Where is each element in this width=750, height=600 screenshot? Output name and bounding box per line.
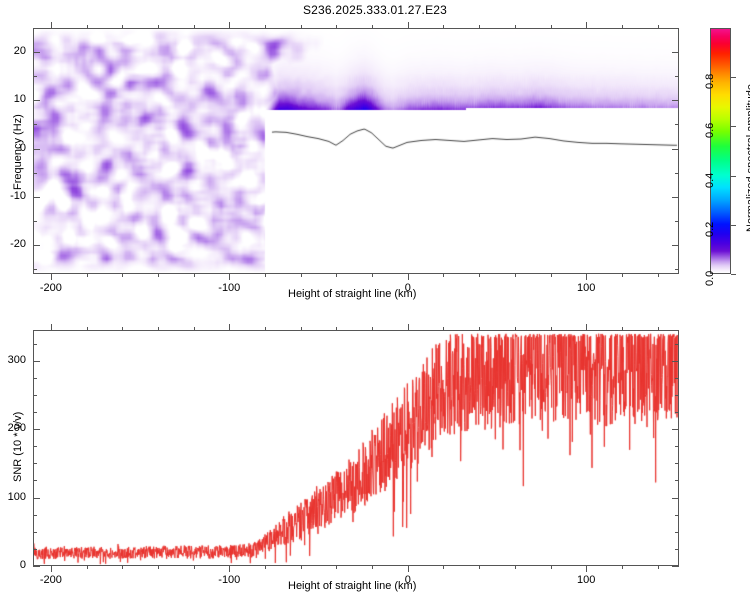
minor-ytick-right [675,173,679,174]
minor-xtick [194,566,195,569]
major-ytick [33,149,40,150]
page-title: S236.2025.333.01.27.E23 [0,3,750,17]
minor-xtick [622,566,623,569]
minor-xtick [479,274,480,277]
spectrogram-panel [33,28,679,274]
minor-xtick-top [265,327,266,330]
major-ytick [33,498,40,499]
minor-xtick [87,274,88,277]
minor-ytick-right [675,395,679,396]
minor-xtick [87,566,88,569]
major-ytick [33,52,40,53]
figure-root: S236.2025.333.01.27.E23 -200-1000100-20-… [0,0,750,600]
major-ytick-right [672,149,679,150]
xtick-label: -100 [209,574,249,586]
ytick-label: 300 [0,354,26,366]
minor-ytick [33,28,37,29]
minor-ytick [33,532,37,533]
minor-xtick-top [87,25,88,28]
minor-xtick-top [194,327,195,330]
ytick-label: -10 [0,190,26,202]
minor-xtick-top [551,25,552,28]
minor-xtick-top [372,25,373,28]
minor-xtick [372,566,373,569]
xtick-label: -200 [31,282,71,294]
minor-xtick-top [265,25,266,28]
minor-xtick-top [122,25,123,28]
minor-ytick [33,221,37,222]
minor-ytick [33,515,37,516]
major-ytick-right [672,429,679,430]
minor-xtick [372,274,373,277]
minor-ytick [33,549,37,550]
major-ytick-right [672,361,679,362]
major-xtick-top [51,22,52,28]
major-xtick-top [229,22,230,28]
minor-xtick-top [336,327,337,330]
xtick-label: 100 [566,282,606,294]
minor-xtick [336,566,337,569]
minor-ytick-right [675,28,679,29]
spectrogram-canvas [34,29,678,273]
minor-ytick [33,378,37,379]
minor-xtick-top [301,327,302,330]
ytick-label: 10 [0,93,26,105]
minor-xtick [515,566,516,569]
snr-canvas [34,331,678,565]
minor-xtick [265,566,266,569]
minor-ytick [33,446,37,447]
minor-xtick [551,566,552,569]
minor-xtick-top [479,25,480,28]
minor-xtick [551,274,552,277]
minor-ytick-right [675,549,679,550]
major-xtick-top [586,324,587,330]
spectrogram-xaxis-label: Height of straight line (km) [288,288,416,300]
major-ytick [33,245,40,246]
minor-xtick [479,566,480,569]
snr-panel [33,330,679,566]
xtick-label: 100 [566,574,606,586]
minor-xtick [158,274,159,277]
minor-ytick [33,173,37,174]
minor-xtick [658,274,659,277]
minor-xtick-top [551,327,552,330]
major-ytick-right [672,498,679,499]
minor-xtick [265,274,266,277]
major-xtick [51,566,52,572]
minor-xtick-top [301,25,302,28]
minor-xtick [336,274,337,277]
major-xtick-top [51,324,52,330]
colorbar-tick-label: 0.4 [704,172,716,187]
major-ytick [33,566,40,567]
ytick-label: -20 [0,238,26,250]
colorbar-tick [731,274,736,275]
minor-xtick [622,274,623,277]
minor-xtick-top [622,25,623,28]
major-ytick-right [672,245,679,246]
major-ytick-right [672,52,679,53]
ytick-label: 100 [0,491,26,503]
colorbar-tick [731,126,736,127]
xtick-label: -100 [209,282,249,294]
minor-ytick [33,124,37,125]
minor-ytick-right [675,221,679,222]
minor-xtick-top [372,327,373,330]
minor-xtick-top [122,327,123,330]
minor-ytick-right [675,412,679,413]
major-xtick-top [408,324,409,330]
minor-ytick-right [675,532,679,533]
minor-xtick [658,566,659,569]
minor-xtick-top [158,25,159,28]
minor-xtick-top [515,25,516,28]
major-xtick [586,566,587,572]
minor-ytick-right [675,446,679,447]
colorbar [710,28,731,274]
major-xtick [229,274,230,280]
minor-ytick-right [675,378,679,379]
major-xtick [229,566,230,572]
spectrogram-yaxis-label: Frequency (Hz) [12,114,24,190]
minor-ytick [33,412,37,413]
minor-xtick [122,566,123,569]
minor-ytick-right [675,76,679,77]
xtick-label: -200 [31,574,71,586]
major-xtick [51,274,52,280]
minor-xtick-top [443,25,444,28]
minor-xtick [158,566,159,569]
minor-xtick [443,274,444,277]
snr-xaxis-label: Height of straight line (km) [288,580,416,592]
colorbar-tick-label: 0.8 [704,74,716,89]
minor-xtick [301,566,302,569]
major-xtick-top [586,22,587,28]
colorbar-label: Normalized spectral amplitude [745,84,750,232]
minor-ytick-right [675,463,679,464]
minor-xtick-top [158,327,159,330]
major-xtick-top [229,324,230,330]
major-xtick-top [408,22,409,28]
major-ytick-right [672,566,679,567]
colorbar-tick-label: 0.0 [704,271,716,286]
minor-ytick [33,463,37,464]
minor-xtick [301,274,302,277]
minor-xtick [515,274,516,277]
minor-xtick-top [658,25,659,28]
minor-xtick-top [87,327,88,330]
ytick-label: 20 [0,45,26,57]
colorbar-tick [731,77,736,78]
minor-xtick-top [336,25,337,28]
minor-xtick-top [479,327,480,330]
minor-ytick-right [675,344,679,345]
minor-xtick [443,566,444,569]
minor-xtick-top [443,327,444,330]
colorbar-tick-label: 0.2 [704,222,716,237]
major-xtick [408,566,409,572]
colorbar-tick [731,225,736,226]
colorbar-tick [731,176,736,177]
minor-xtick-top [515,327,516,330]
ytick-label: 0 [0,559,26,571]
minor-ytick [33,344,37,345]
major-ytick [33,361,40,362]
minor-ytick-right [675,269,679,270]
major-ytick [33,429,40,430]
minor-xtick-top [658,327,659,330]
major-xtick [408,274,409,280]
major-ytick [33,197,40,198]
minor-ytick-right [675,515,679,516]
minor-ytick-right [675,480,679,481]
minor-ytick [33,269,37,270]
minor-xtick [194,274,195,277]
minor-xtick [122,274,123,277]
minor-ytick [33,395,37,396]
minor-xtick-top [622,327,623,330]
colorbar-tick-label: 0.6 [704,123,716,138]
snr-yaxis-label: SNR (10 * v/v) [12,412,24,482]
major-ytick [33,100,40,101]
minor-ytick [33,480,37,481]
minor-ytick-right [675,124,679,125]
major-ytick-right [672,100,679,101]
minor-ytick [33,76,37,77]
major-ytick-right [672,197,679,198]
minor-xtick-top [194,25,195,28]
major-xtick [586,274,587,280]
